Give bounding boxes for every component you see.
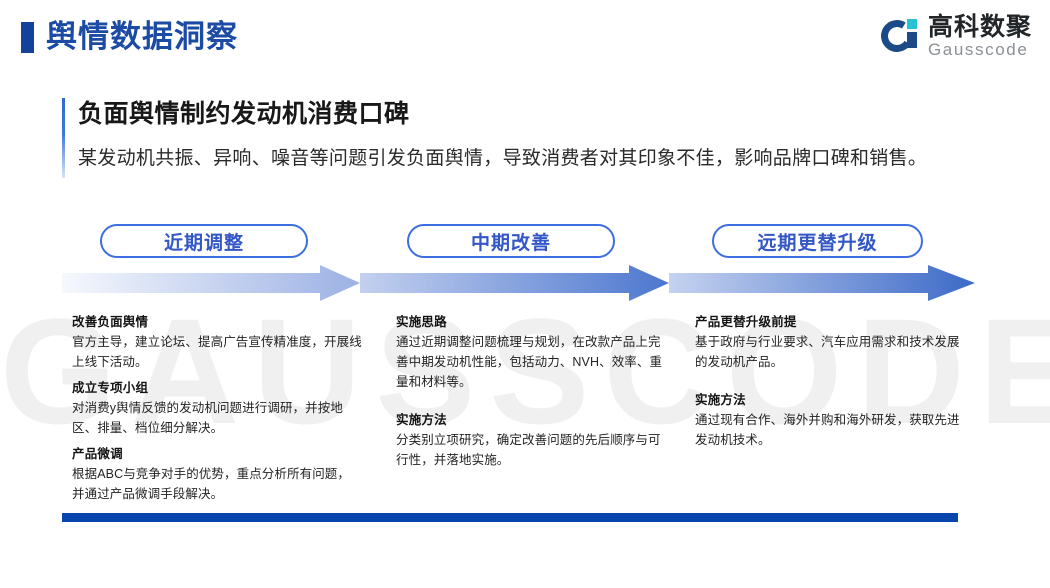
gausscode-logo-icon — [881, 17, 919, 55]
content-block: 成立专项小组 对消费y舆情反馈的发动机问题进行调研，并按地区、排量、档位细分解决… — [72, 378, 362, 438]
content-block-title: 改善负面舆情 — [72, 312, 362, 332]
content-block: 产品微调 根据ABC与竞争对手的优势，重点分析所有问题，并通过产品微调手段解决。 — [72, 444, 362, 504]
content-columns: 改善负面舆情 官方主导，建立论坛、提高广告宣传精准度，开展线上线下活动。 成立专… — [0, 312, 1050, 502]
content-block-body: 官方主导，建立论坛、提高广告宣传精准度，开展线上线下活动。 — [72, 332, 362, 372]
content-block: 实施思路 通过近期调整问题梳理与规划，在改款产品上完善中期发动机性能，包括动力、… — [396, 312, 666, 392]
content-block-body: 通过近期调整问题梳理与规划，在改款产品上完善中期发动机性能，包括动力、NVH、效… — [396, 332, 666, 392]
content-block: 实施方法 通过现有合作、海外并购和海外研发，获取先进发动机技术。 — [695, 390, 960, 450]
content-block-title: 实施思路 — [396, 312, 666, 332]
column-mid-term: 实施思路 通过近期调整问题梳理与规划，在改款产品上完善中期发动机性能，包括动力、… — [396, 312, 666, 476]
intro-block: 负面舆情制约发动机消费口碑 某发动机共振、异响、噪音等问题引发负面舆情，导致消费… — [62, 96, 978, 173]
content-block: 改善负面舆情 官方主导，建立论坛、提高广告宣传精准度，开展线上线下活动。 — [72, 312, 362, 372]
brand-logo-text: 高科数聚 Gausscode — [928, 14, 1032, 59]
content-block-title: 产品微调 — [72, 444, 362, 464]
brand-logo: 高科数聚 Gausscode — [881, 12, 1032, 60]
content-block-body: 根据ABC与竞争对手的优势，重点分析所有问题，并通过产品微调手段解决。 — [72, 464, 362, 504]
stage-pill-label: 中期改善 — [471, 228, 551, 255]
intro-description: 某发动机共振、异响、噪音等问题引发负面舆情，导致消费者对其印象不佳，影响品牌口碑… — [78, 145, 978, 173]
content-block-title: 成立专项小组 — [72, 378, 362, 398]
stage-pill-long-term[interactable]: 远期更替升级 — [712, 224, 923, 258]
stage-pill-near-term[interactable]: 近期调整 — [100, 224, 308, 258]
content-block: 实施方法 分类别立项研究，确定改善问题的先后顺序与可行性，并落地实施。 — [396, 410, 666, 470]
intro-title: 负面舆情制约发动机消费口碑 — [78, 96, 978, 132]
logo-accent-square-icon — [907, 19, 917, 29]
content-block-body: 对消费y舆情反馈的发动机问题进行调研，并按地区、排量、档位细分解决。 — [72, 398, 362, 438]
logo-bar-shape — [907, 32, 917, 48]
slide-header: 舆情数据洞察 高科数聚 Gausscode — [0, 0, 1050, 76]
content-block-body: 基于政府与行业要求、汽车应用需求和技术发展的发动机产品。 — [695, 332, 960, 372]
content-block-title: 实施方法 — [396, 410, 666, 430]
content-block-body: 分类别立项研究，确定改善问题的先后顺序与可行性，并落地实施。 — [396, 430, 666, 470]
footer-bar — [62, 513, 958, 522]
timeline-arrow — [62, 264, 975, 302]
header-marker-icon — [21, 22, 34, 53]
stage-pill-label: 远期更替升级 — [757, 228, 877, 255]
content-block-title: 实施方法 — [695, 390, 960, 410]
brand-name-cn: 高科数聚 — [928, 14, 1032, 40]
timeline-arrow-graphic — [62, 264, 975, 302]
intro-accent-rule — [62, 98, 65, 178]
column-long-term: 产品更替升级前提 基于政府与行业要求、汽车应用需求和技术发展的发动机产品。 实施… — [695, 312, 960, 456]
slide-root: GAUSSCODE 舆情数据洞察 高科数聚 Gausscode 负面舆情制约发动… — [0, 0, 1050, 588]
stage-pill-mid-term[interactable]: 中期改善 — [407, 224, 615, 258]
page-title: 舆情数据洞察 — [46, 16, 238, 58]
content-block-title: 产品更替升级前提 — [695, 312, 960, 332]
content-block-body: 通过现有合作、海外并购和海外研发，获取先进发动机技术。 — [695, 410, 960, 450]
stage-pill-label: 近期调整 — [164, 228, 244, 255]
brand-name-en: Gausscode — [928, 40, 1032, 59]
column-near-term: 改善负面舆情 官方主导，建立论坛、提高广告宣传精准度，开展线上线下活动。 成立专… — [72, 312, 362, 510]
content-block: 产品更替升级前提 基于政府与行业要求、汽车应用需求和技术发展的发动机产品。 — [695, 312, 960, 372]
